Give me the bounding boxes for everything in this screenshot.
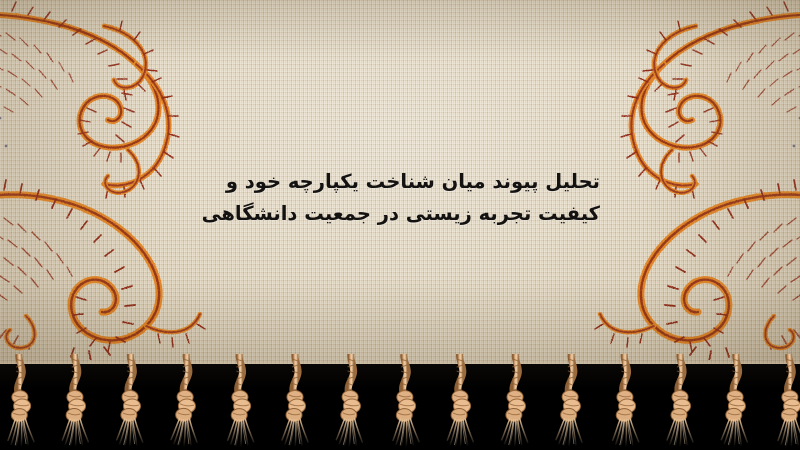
tassel <box>225 354 261 450</box>
caption-text-block: تحلیل پیوند میان شناخت یکپارچه خود و کیف… <box>200 166 600 230</box>
tassel <box>390 354 427 450</box>
tassel <box>501 354 536 450</box>
tassel <box>61 354 96 450</box>
tassel <box>170 354 207 450</box>
tassel <box>666 354 700 450</box>
tassel <box>335 354 371 450</box>
tassel <box>5 354 42 450</box>
tassel <box>775 354 800 450</box>
tassel <box>610 354 646 450</box>
tassel <box>720 354 756 450</box>
tassel <box>446 354 481 450</box>
artwork-canvas: تحلیل پیوند میان شناخت یکپارچه خود و کیف… <box>0 0 800 450</box>
caption-line-1: تحلیل پیوند میان شناخت یکپارچه خود و <box>200 166 600 198</box>
tassel <box>116 354 151 450</box>
tassel <box>555 354 592 450</box>
tassel <box>281 354 315 450</box>
fabric-panel: تحلیل پیوند میان شناخت یکپارچه خود و کیف… <box>0 0 800 376</box>
knotted-tassel-fringe <box>0 354 800 450</box>
caption-line-2: کیفیت تجربه زیستی در جمعیت دانشگاهی <box>200 198 600 230</box>
